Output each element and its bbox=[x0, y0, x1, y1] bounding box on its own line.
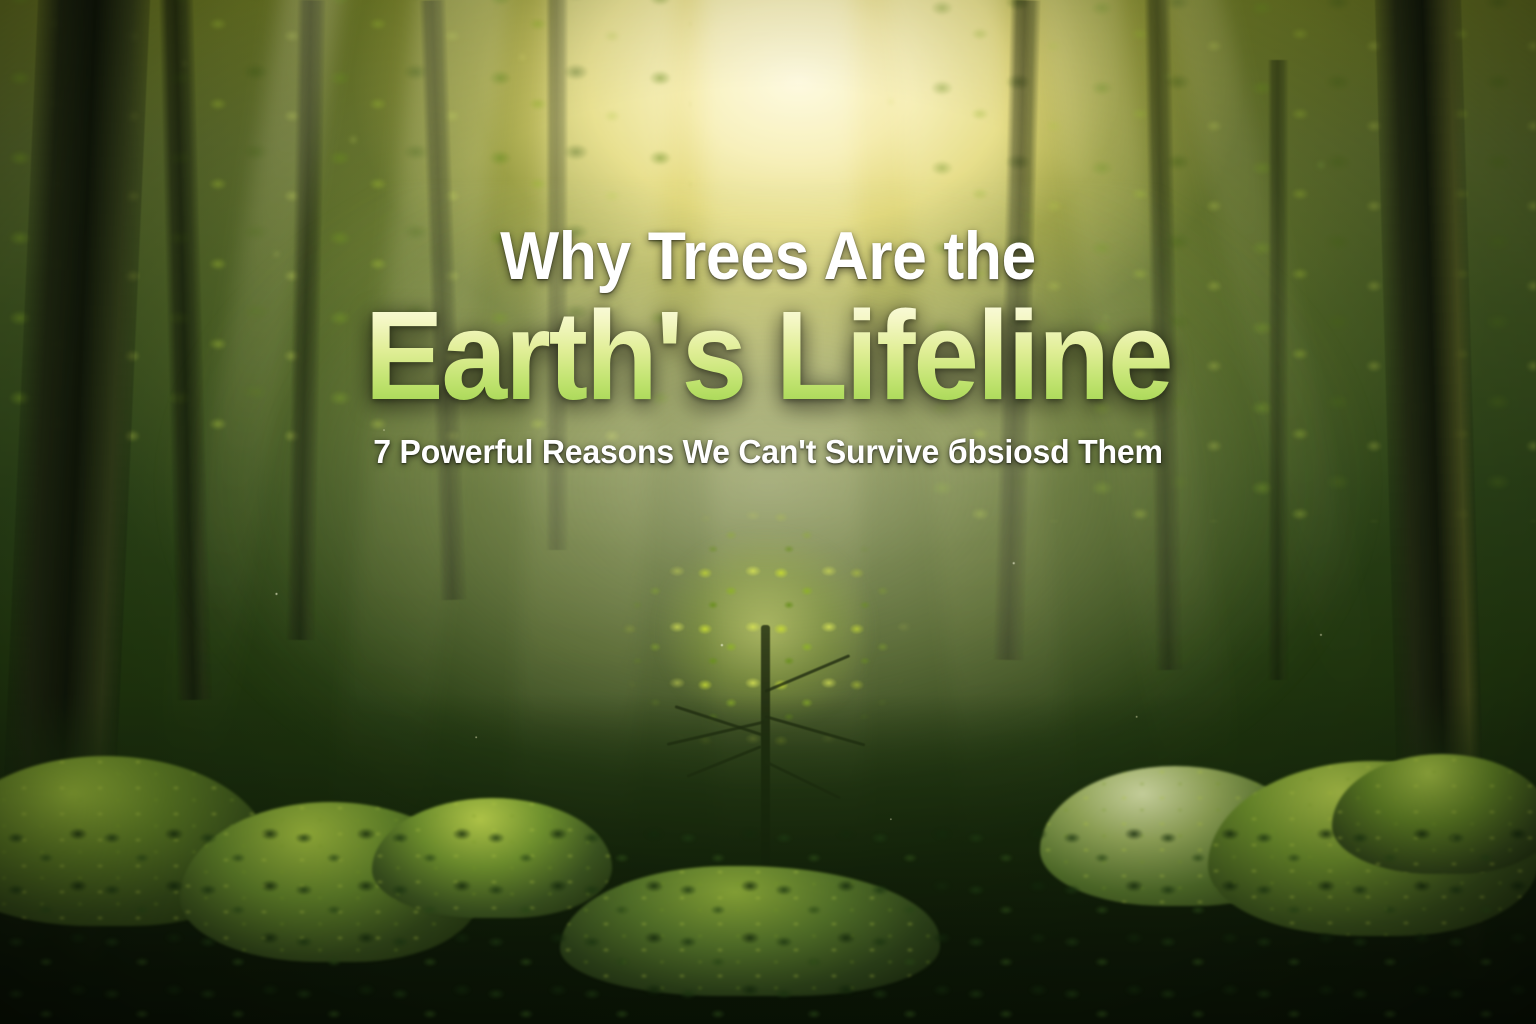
eyebrow-heading: Why Trees Are the bbox=[61, 222, 1474, 291]
main-headline: Earth's Lifeline bbox=[46, 293, 1490, 419]
subheadline-before: 7 Powerful Reasons We Can't Survive bbox=[373, 433, 948, 470]
subheadline-garbled-word: бbsiosd bbox=[948, 433, 1070, 470]
subheadline: 7 Powerful Reasons We Can't Survive бbsi… bbox=[23, 433, 1513, 471]
forest-poster: Why Trees Are the Earth's Lifeline 7 Pow… bbox=[0, 0, 1536, 1024]
subheadline-after: Them bbox=[1069, 433, 1162, 470]
poster-text-block: Why Trees Are the Earth's Lifeline 7 Pow… bbox=[0, 222, 1536, 471]
undergrowth-foliage bbox=[0, 824, 1536, 1024]
